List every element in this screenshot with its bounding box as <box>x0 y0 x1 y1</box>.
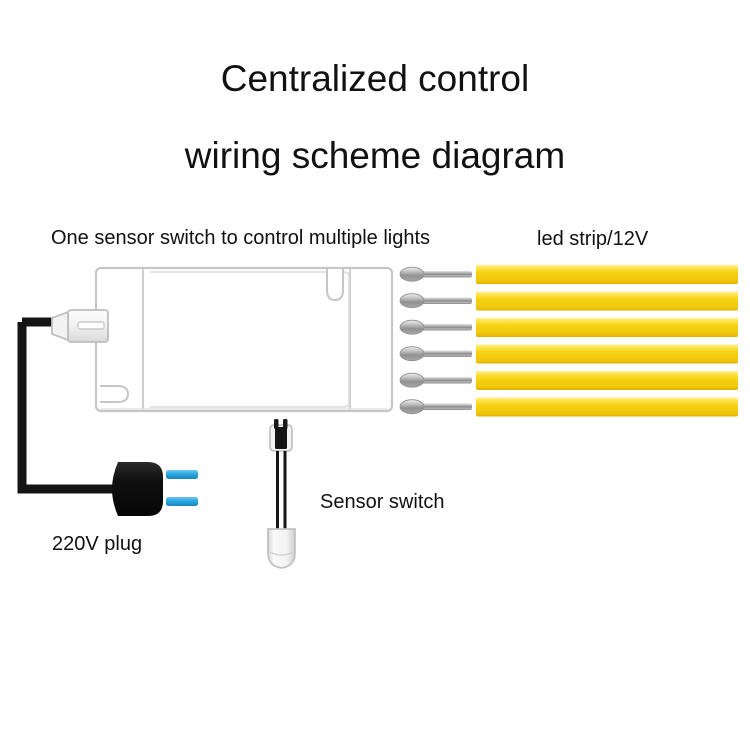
led-strip-connector-head <box>400 400 424 414</box>
led-strip-connector <box>420 324 472 331</box>
led-strip-group <box>400 264 738 417</box>
plug-prong-bottom <box>166 497 198 506</box>
led-strip-connector-head <box>400 347 424 361</box>
wiring-diagram-illustration <box>0 0 750 750</box>
led-strip-row <box>400 344 738 364</box>
led-strip <box>476 291 738 311</box>
led-strip-connector-head <box>400 267 424 281</box>
led-strip-connector-head <box>400 373 424 387</box>
dc-input-connector <box>52 310 108 342</box>
220v-plug <box>112 462 198 516</box>
led-strip-connector <box>420 377 472 384</box>
led-strip <box>476 344 738 364</box>
led-strip-row <box>400 264 738 284</box>
led-strip-row <box>400 397 738 417</box>
led-strip-row <box>400 317 738 337</box>
sensor-switch <box>268 419 295 568</box>
plug-prong-top <box>166 470 198 479</box>
led-strip <box>476 264 738 284</box>
led-strip-connector-head <box>400 320 424 334</box>
led-strip-connector <box>420 351 472 358</box>
led-strip <box>476 317 738 337</box>
diagram-page: Centralized control wiring scheme diagra… <box>0 0 750 750</box>
led-strip-connector <box>420 404 472 411</box>
led-strip-connector-head <box>400 294 424 308</box>
led-strip-row <box>400 291 738 311</box>
transformer-box <box>96 268 392 411</box>
led-strip <box>476 370 738 390</box>
led-strip-connector <box>420 298 472 305</box>
led-strip-connector <box>420 271 472 278</box>
led-strip-row <box>400 370 738 390</box>
led-strip <box>476 397 738 417</box>
